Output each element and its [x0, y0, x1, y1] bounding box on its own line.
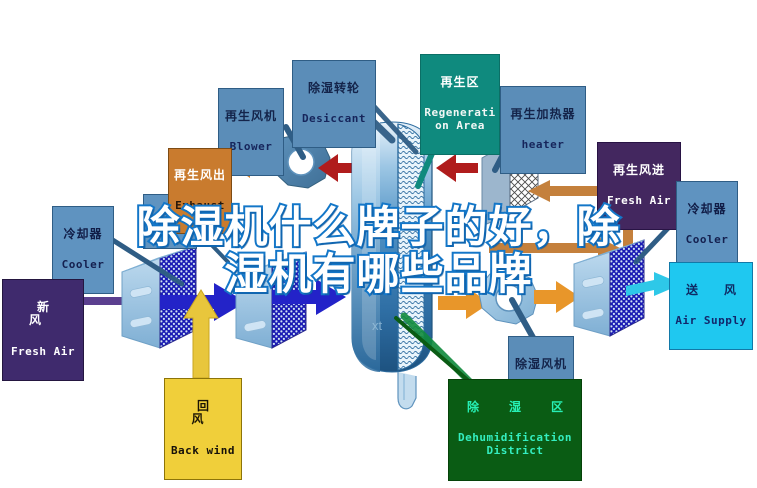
- dehumidification-blower-housing: [478, 270, 538, 324]
- label-regen-fresh-air-en: Fresh Air: [600, 195, 678, 207]
- label-regen-exhaust-cn: 再生风出: [171, 169, 229, 182]
- label-regen-exhaust-en: Exhaust: [171, 200, 229, 212]
- label-air-supply-en: Air Supply: [672, 315, 750, 327]
- label-regen-heater-cn: 再生加热器: [503, 108, 583, 121]
- label-back-wind[interactable]: 回 风 Back wind: [164, 378, 242, 480]
- condensate-drain: [398, 372, 416, 409]
- label-desiccant-wheel[interactable]: 除湿转轮 Desiccant: [292, 60, 376, 148]
- label-cooler-right-en: Cooler: [679, 234, 735, 246]
- label-back-wind-cn: 回 风: [167, 400, 239, 427]
- label-desiccant-wheel-en: Desiccant: [295, 113, 373, 125]
- label-regen-area-en: Regenerati on Area: [423, 107, 497, 132]
- label-dehum-district-en: Dehumidification District: [451, 432, 579, 457]
- label-cooler-left-en: Cooler: [55, 259, 111, 271]
- dry-air-arrow-2: [534, 281, 580, 313]
- label-back-wind-en: Back wind: [167, 445, 239, 457]
- label-dehum-district-cn: 除 湿 区: [451, 401, 579, 414]
- label-cooler-left-cn: 冷却器: [55, 228, 111, 241]
- label-regen-fresh-air-cn: 再生风进: [600, 164, 678, 177]
- label-fresh-air-cn: 新 风: [5, 301, 81, 328]
- label-air-supply-cn: 送 风: [672, 284, 750, 297]
- label-dehum-blower-cn: 除湿风机: [511, 358, 571, 371]
- regen-hot-air-arrow-2: [436, 154, 478, 182]
- watermark-text: xt: [372, 318, 383, 333]
- label-regen-heater-en: heater: [503, 139, 583, 151]
- label-fresh-air[interactable]: 新 风 Fresh Air: [2, 279, 84, 381]
- label-cooler-right-cn: 冷却器: [679, 203, 735, 216]
- label-regen-exhaust[interactable]: 再生风出 Exhaust: [168, 148, 232, 234]
- label-fresh-air-en: Fresh Air: [5, 346, 81, 358]
- label-regen-area-cn: 再生区: [423, 76, 497, 89]
- diagram-canvas: xt: [0, 0, 757, 488]
- label-cooler-right[interactable]: 冷却器 Cooler: [676, 181, 738, 269]
- label-regen-heater[interactable]: 再生加热器 heater: [500, 86, 586, 174]
- label-regen-blower-cn: 再生风机: [221, 110, 281, 123]
- label-dehum-district[interactable]: 除 湿 区 Dehumidification District: [448, 379, 582, 481]
- label-air-supply[interactable]: 送 风 Air Supply: [669, 262, 753, 350]
- label-desiccant-wheel-cn: 除湿转轮: [295, 82, 373, 95]
- label-regen-fresh-air[interactable]: 再生风进 Fresh Air: [597, 142, 681, 230]
- label-regen-area[interactable]: 再生区 Regenerati on Area: [420, 54, 500, 155]
